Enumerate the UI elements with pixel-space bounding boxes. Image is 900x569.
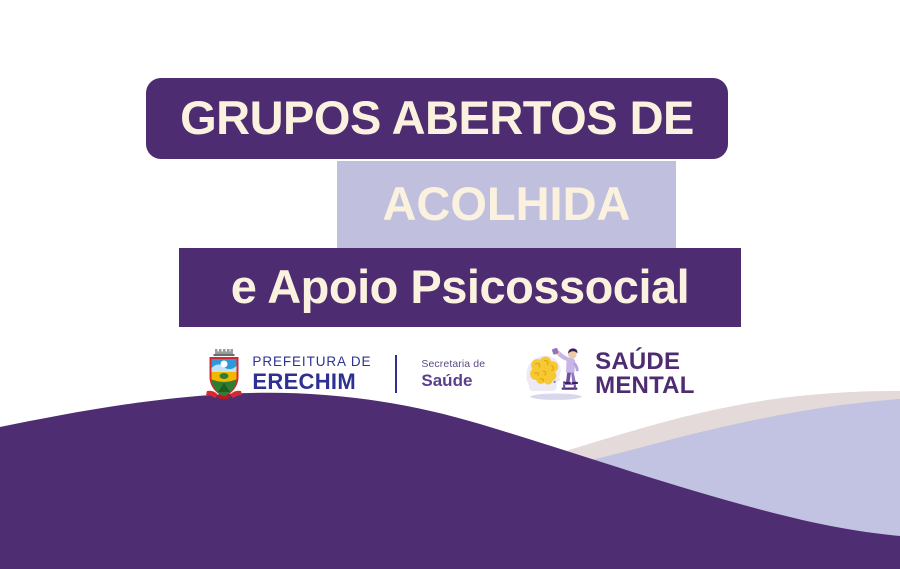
- prefeitura-text: PREFEITURA DE ERECHIM: [252, 355, 371, 393]
- saude-mental-text: SAÚDE MENTAL: [595, 350, 694, 399]
- saude-mental-line1: SAÚDE: [595, 350, 694, 374]
- title-line1-text: GRUPOS ABERTOS DE: [180, 94, 694, 144]
- logo-prefeitura-erechim: PREFEITURA DE ERECHIM: [205, 348, 371, 400]
- wave-purple-shape: [0, 393, 900, 569]
- logo-saude-mental: SAÚDE MENTAL: [523, 347, 694, 401]
- prefeitura-line2: ERECHIM: [252, 371, 371, 393]
- saude-mental-line2: MENTAL: [595, 374, 694, 398]
- logo-row: PREFEITURA DE ERECHIM Secretaria de Saúd…: [0, 341, 900, 407]
- secretaria-line1: Secretaria de: [421, 359, 485, 370]
- wave-lavender-shape: [380, 399, 900, 569]
- poster-canvas: GRUPOS ABERTOS DE ACOLHIDA e Apoio Psico…: [0, 0, 900, 569]
- brain-head-ladder-icon: [523, 347, 589, 401]
- title-stack: GRUPOS ABERTOS DE ACOLHIDA e Apoio Psico…: [0, 0, 900, 340]
- title-band-line2: ACOLHIDA: [337, 161, 676, 248]
- title-band-line3: e Apoio Psicossocial: [179, 248, 741, 327]
- logo-secretaria-saude: Secretaria de Saúde: [421, 359, 485, 390]
- title-line3-text: e Apoio Psicossocial: [231, 263, 689, 313]
- title-band-line1: GRUPOS ABERTOS DE: [146, 78, 728, 159]
- secretaria-line2: Saúde: [421, 372, 485, 389]
- prefeitura-line1: PREFEITURA DE: [252, 355, 371, 369]
- logo-divider: [395, 355, 397, 393]
- title-line2-text: ACOLHIDA: [382, 180, 630, 229]
- erechim-coat-of-arms-icon: [205, 348, 243, 400]
